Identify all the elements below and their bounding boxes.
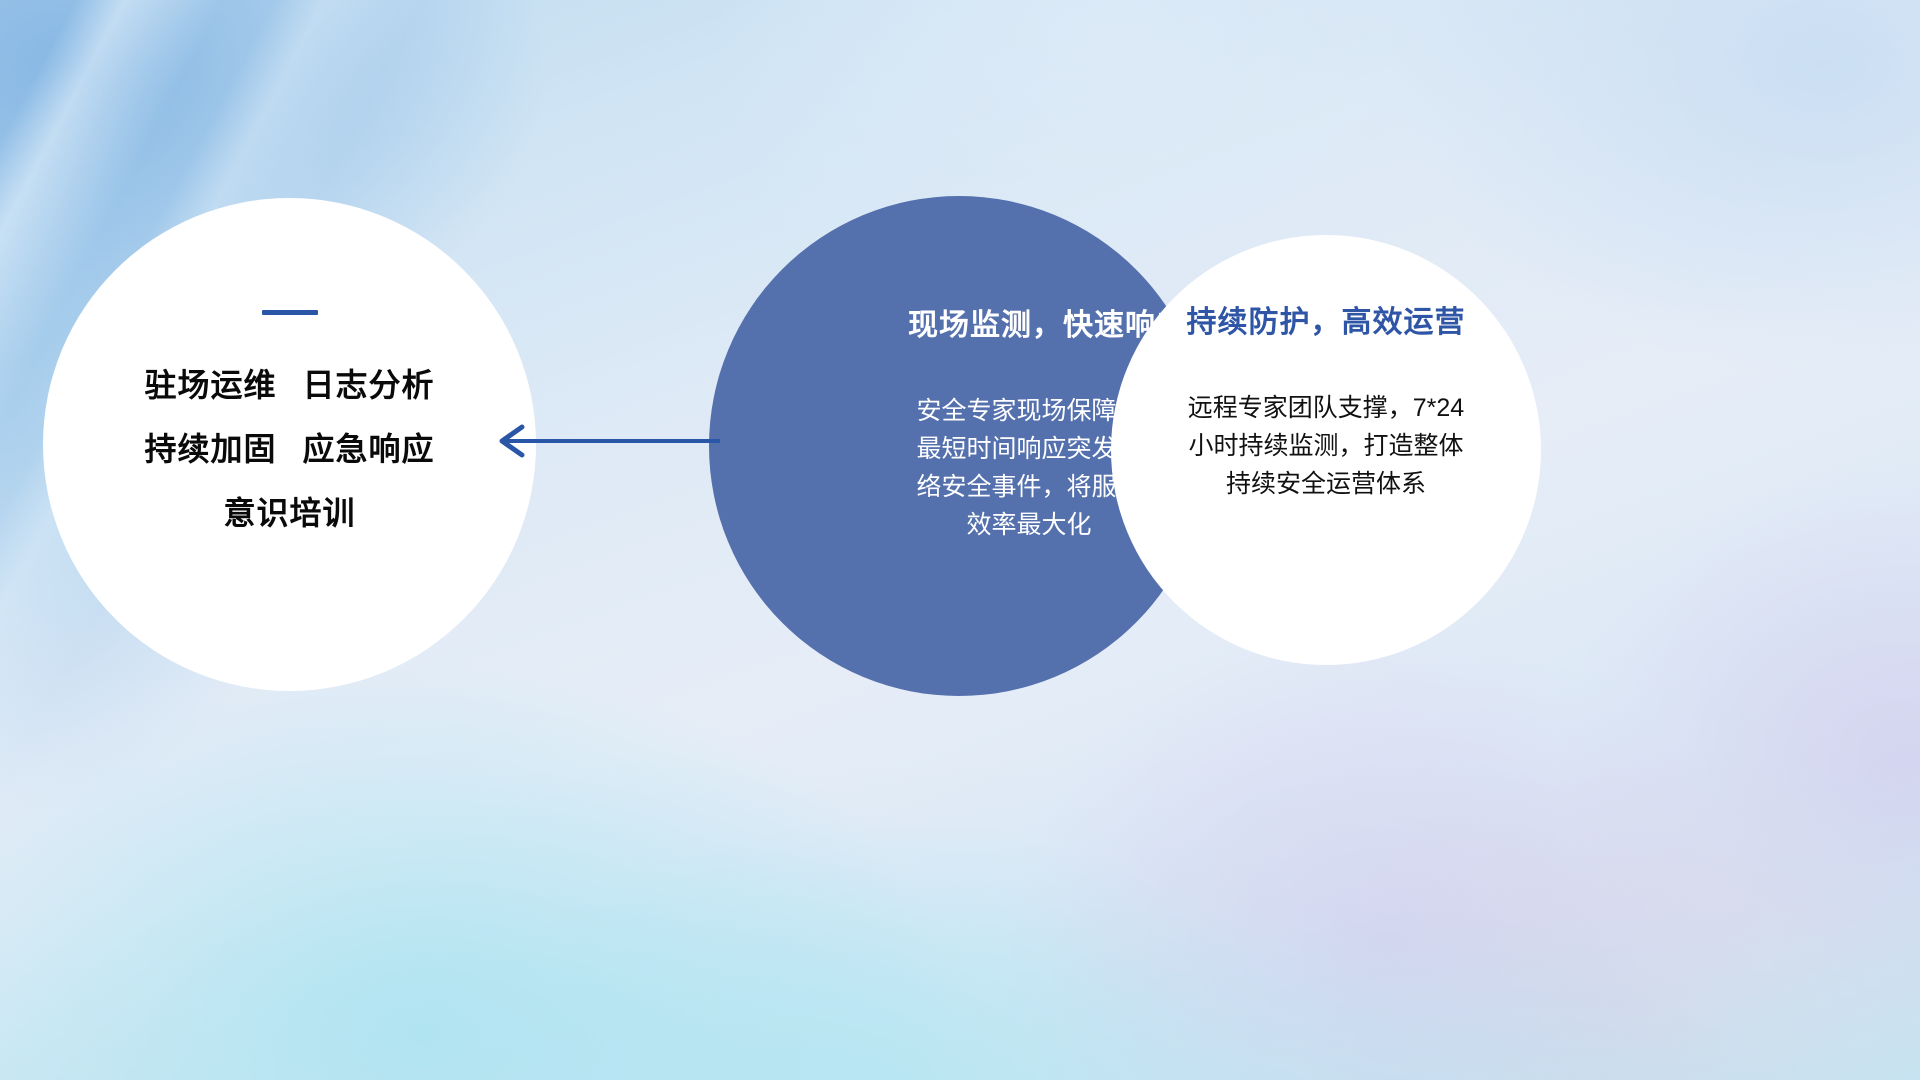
left-circle-row: 意识培训 [223,497,355,529]
left-circle-keyword: 持续加固 [144,431,276,467]
slide-canvas: 现场监测，快速响应 安全专家现场保障， 最短时间响应突发网 络安全事件，将服务 … [0,0,1920,1080]
right-circle-content: 持续防护，高效运营 远程专家团队支撑，7*24 小时持续监测，打造整体 持续安全… [1111,235,1541,665]
right-circle-body-line: 远程专家团队支撑，7*24 [1142,389,1510,427]
left-circle-keyword: 日志分析 [303,367,435,403]
left-circle-row: 驻场运维日志分析 [144,369,434,401]
right-circle-body-line: 持续安全运营体系 [1142,465,1510,503]
left-circle-keyword: 意识培训 [223,495,355,531]
left-circle-keyword: 驻场运维 [144,367,276,403]
left-circle-content: 驻场运维日志分析 持续加固应急响应 意识培训 [43,198,536,691]
right-circle-body-line: 小时持续监测，打造整体 [1142,427,1510,465]
left-circle-keyword: 应急响应 [303,431,435,467]
left-circle-divider [262,310,318,315]
left-circle-row: 持续加固应急响应 [144,433,434,465]
right-circle-body: 远程专家团队支撑，7*24 小时持续监测，打造整体 持续安全运营体系 [1142,389,1510,503]
right-circle-title: 持续防护，高效运营 [1187,297,1466,341]
